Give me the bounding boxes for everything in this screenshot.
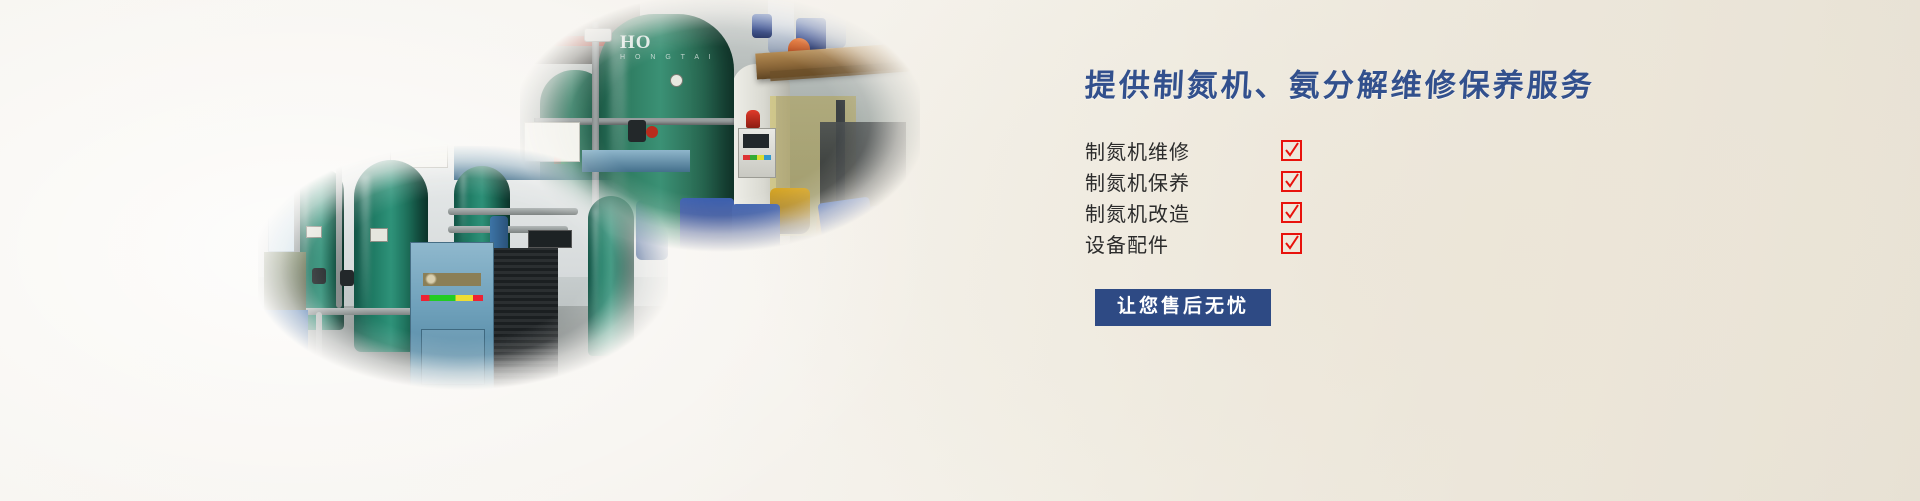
service-feature-list: 制氮机维修 制氮机保养 制氮机改造 — [1085, 135, 1805, 259]
feature-label: 制氮机保养 — [1085, 167, 1281, 196]
page-title: 提供制氮机、氨分解维修保养服务 — [1084, 60, 1806, 105]
service-banner: HO H O N G T A I — [0, 0, 1920, 501]
feature-label: 设备配件 — [1085, 229, 1281, 258]
tank-nameplate — [306, 226, 322, 238]
checkmark-icon — [1281, 233, 1302, 254]
blue-control-cabinet — [410, 242, 494, 390]
blue-drum — [870, 206, 920, 250]
blue-equipment-base — [264, 310, 308, 358]
tank-logo-subtext: H O N G T A I — [620, 54, 715, 61]
tank-nameplate — [370, 228, 388, 242]
panel-indicator-lights — [743, 155, 771, 160]
list-item: 设备配件 — [1085, 228, 1805, 259]
pressure-gauge — [670, 74, 683, 87]
valve — [628, 120, 646, 142]
alarm-beacon — [746, 110, 760, 128]
psa-nitrogen-skid-photo — [258, 144, 668, 390]
blue-drum — [732, 204, 780, 252]
cta-button[interactable]: 让您售后无忧 — [1095, 289, 1271, 326]
panel-display — [743, 134, 769, 148]
feature-label: 制氮机改造 — [1085, 198, 1281, 227]
digital-controller — [528, 230, 572, 248]
cabinet-indicator-lights — [554, 156, 568, 164]
control-panel — [738, 128, 776, 178]
blue-drum — [680, 198, 734, 252]
cabinet-access-door — [421, 329, 485, 385]
checkmark-icon — [1281, 171, 1302, 192]
pipe-horizontal — [448, 208, 578, 215]
cabinet-indicator-lights — [421, 295, 483, 301]
cabinet-gauges — [423, 273, 481, 286]
flange — [584, 28, 612, 42]
blue-drum — [817, 197, 874, 244]
list-item: 制氮机维修 — [1085, 135, 1805, 166]
valve-handwheel — [646, 126, 658, 138]
checkmark-icon — [1281, 202, 1302, 223]
checkmark-icon — [1281, 140, 1302, 161]
pipe-vertical — [316, 312, 322, 370]
feature-label: 制氮机维修 — [1085, 136, 1281, 165]
valve — [312, 268, 326, 284]
banner-content: 提供制氮机、氨分解维修保养服务 制氮机维修 制氮机保养 — [1085, 60, 1805, 326]
blue-drum — [752, 14, 772, 38]
valve — [340, 270, 354, 286]
list-item: 制氮机保养 — [1085, 166, 1805, 197]
blue-drum — [636, 200, 668, 260]
chiller-condenser — [494, 248, 558, 388]
tank-logo-text: HO — [620, 32, 652, 54]
list-item: 制氮机改造 — [1085, 197, 1805, 228]
green-tank — [588, 196, 634, 356]
green-equipment-box — [264, 252, 306, 310]
